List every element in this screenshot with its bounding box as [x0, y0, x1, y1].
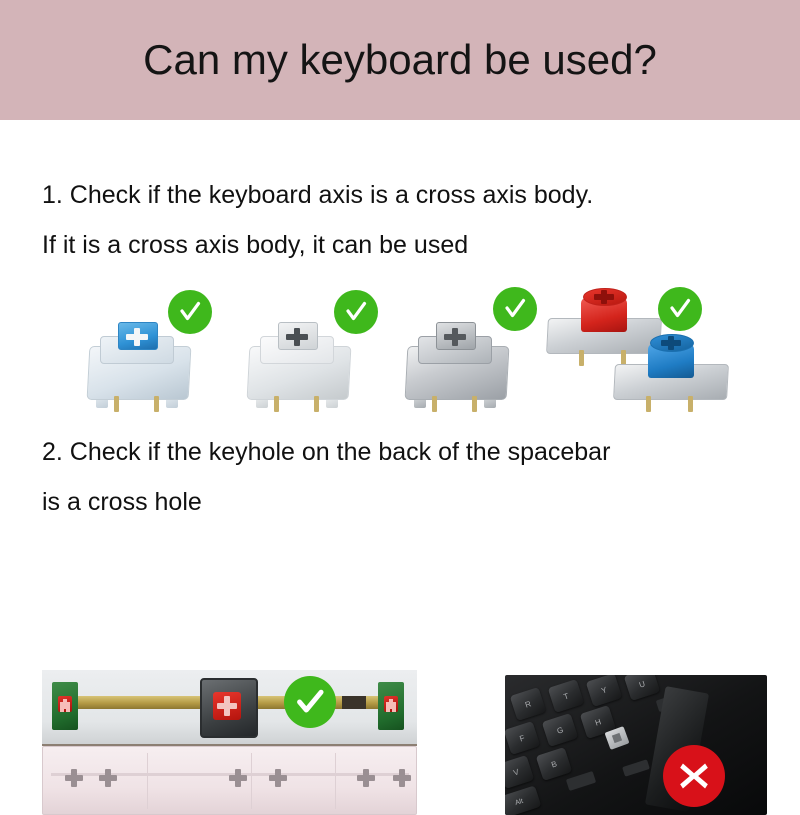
- spacebar-cross-hole-photo: [42, 670, 417, 815]
- switch-item-white: [240, 283, 380, 418]
- spacebar-pcb-plate: [42, 670, 417, 746]
- keycap: V: [505, 755, 534, 789]
- keycap: Y: [586, 675, 623, 707]
- step-1-line-1: 1. Check if the keyboard axis is a cross…: [42, 183, 593, 208]
- spacebar-non-cross-hole-photo: R T Y U F G H V B Alt: [505, 675, 767, 815]
- switch-item-metal: [400, 283, 540, 418]
- cross-hole: [393, 769, 411, 787]
- cross-hole: [65, 769, 83, 787]
- cross-hole: [269, 769, 287, 787]
- keycap: R: [510, 687, 547, 721]
- header-banner: Can my keyboard be used?: [0, 0, 800, 120]
- check-circle-icon: [284, 676, 336, 728]
- step-1-line-2: If it is a cross axis body, it can be us…: [42, 233, 468, 258]
- cross-hole: [229, 769, 247, 787]
- pcb-module-left: [52, 682, 78, 730]
- keycap: U: [624, 675, 661, 701]
- switch-item-blue: [78, 283, 208, 418]
- switch-item-blue-low: [612, 283, 782, 418]
- plate-slot: [566, 771, 596, 791]
- switch-blue-low-illustration: [612, 340, 730, 412]
- keycap: T: [548, 679, 585, 713]
- switch-metal-illustration: [402, 326, 510, 412]
- plate-slot: [622, 759, 650, 777]
- cross-circle-icon: [663, 745, 725, 807]
- step-2-line-2: is a cross hole: [42, 490, 202, 515]
- check-circle-icon: [493, 287, 537, 331]
- step-2-line-1: 2. Check if the keyhole on the back of t…: [42, 440, 610, 465]
- stabilizer-clip: [342, 696, 366, 709]
- keycap: F: [505, 721, 540, 755]
- page-title: Can my keyboard be used?: [143, 39, 657, 81]
- switch-gallery: [0, 283, 800, 418]
- cross-hole: [357, 769, 375, 787]
- center-red-switch: [200, 678, 258, 738]
- cross-hole: [99, 769, 117, 787]
- check-circle-icon: [334, 290, 378, 334]
- switch-white-illustration: [244, 326, 352, 412]
- keycap: Alt: [505, 785, 541, 815]
- content-area: 1. Check if the keyboard axis is a cross…: [0, 120, 800, 800]
- check-circle-icon: [168, 290, 212, 334]
- spacebar-underside: [42, 746, 417, 815]
- keycap: B: [536, 747, 573, 781]
- switch-blue-illustration: [84, 326, 192, 412]
- pcb-module-right: [378, 682, 404, 730]
- keycap: G: [542, 713, 579, 747]
